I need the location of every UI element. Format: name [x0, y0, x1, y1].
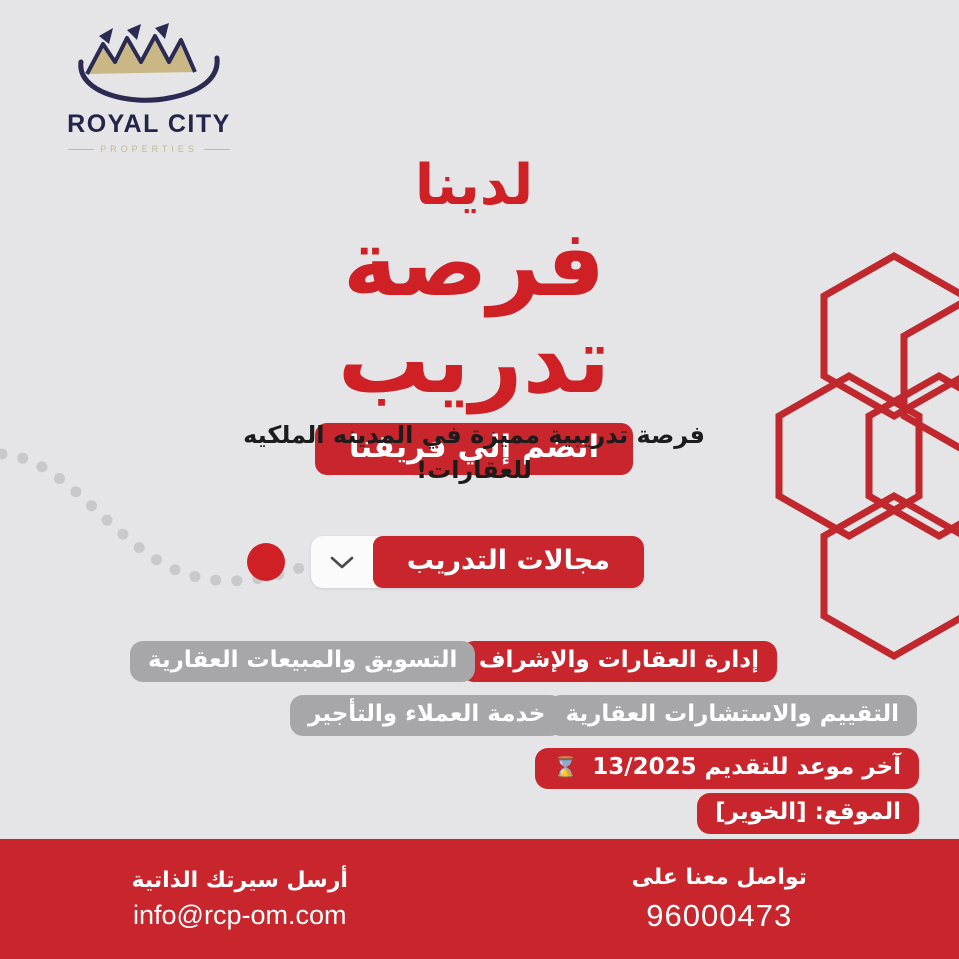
chip-property-management[interactable]: إدارة العقارات والإشراف: [461, 641, 777, 682]
deadline-badge: آخر موعد للتقديم 13/2025 ⌛: [535, 748, 919, 789]
deadline-text: آخر موعد للتقديم 13/2025: [592, 754, 901, 780]
royal-city-crown-icon: [69, 22, 229, 110]
description-text: فرصة تدريبية مميزة في المدينه الملكيه لل…: [224, 418, 724, 488]
chevron-down-icon[interactable]: [311, 536, 373, 588]
page-title: فرصة تدريب: [204, 216, 744, 409]
logo-tagline-group: PROPERTIES: [44, 144, 254, 154]
footer-bar: تواصل معنا على 96000473 أرسل سيرتك الذات…: [0, 839, 959, 959]
hourglass-icon: ⌛: [553, 755, 578, 779]
red-dot-decoration: [247, 543, 285, 581]
brand-logo: ROYAL CITY PROPERTIES: [44, 22, 254, 167]
logo-rule-right: [204, 149, 230, 150]
location-badge: الموقع: [الخوير]: [697, 793, 919, 834]
contact-email[interactable]: info@rcp-om.com: [0, 899, 480, 931]
logo-rule-left: [68, 149, 94, 150]
training-fields-dropdown[interactable]: مجالات التدريب: [311, 536, 644, 588]
dropdown-selected-value[interactable]: مجالات التدريب: [373, 536, 644, 588]
footer-cv-block: أرسل سيرتك الذاتية info@rcp-om.com: [0, 867, 480, 932]
chip-customer-service-leasing[interactable]: خدمة العملاء والتأجير: [290, 695, 563, 736]
contact-phone[interactable]: 96000473: [480, 897, 959, 934]
contact-label: تواصل معنا على: [480, 864, 959, 893]
logo-name: ROYAL CITY: [44, 112, 254, 137]
training-fields-dropdown-row: مجالات التدريب: [247, 536, 644, 588]
poster-canvas: ROYAL CITY PROPERTIES لدينا فرصة تدريب ا…: [0, 0, 959, 959]
chip-marketing-sales[interactable]: التسويق والمبيعات العقارية: [130, 641, 475, 682]
logo-tagline: PROPERTIES: [100, 144, 198, 154]
headline-kicker: لدينا: [204, 158, 744, 214]
chip-valuation-consulting[interactable]: التقييم والاستشارات العقارية: [548, 695, 917, 736]
footer-contact-block: تواصل معنا على 96000473: [480, 864, 959, 934]
cube-pattern-decoration: [789, 248, 959, 638]
cv-label: أرسل سيرتك الذاتية: [0, 867, 480, 896]
